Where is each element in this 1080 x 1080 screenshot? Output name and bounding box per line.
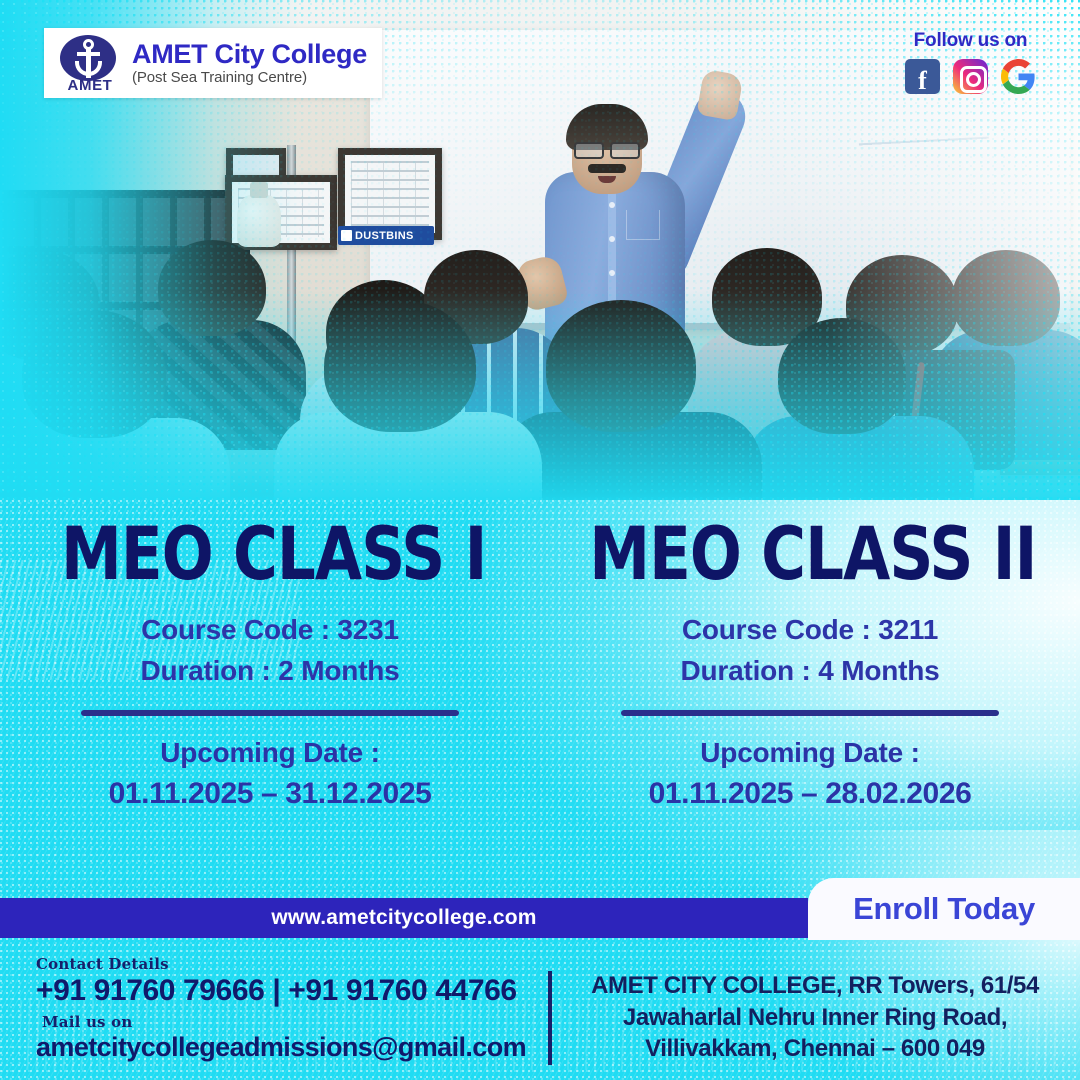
shirt-button — [609, 270, 615, 276]
course-meta: Course Code : 3211 Duration : 4 Months — [540, 610, 1080, 692]
eyeglasses-icon — [574, 142, 640, 155]
upcoming-label: Upcoming Date : — [540, 733, 1080, 773]
anchor-icon: AMET — [58, 34, 122, 92]
dustbins-sign-label: DUSTBINS — [355, 230, 414, 242]
dustbin-glyph — [341, 230, 352, 241]
course-duration: Duration : 4 Months — [540, 651, 1080, 692]
shirt-button — [609, 202, 615, 208]
google-icon[interactable] — [1001, 59, 1036, 94]
shirt-button — [609, 236, 615, 242]
enroll-today-label: Enroll Today — [853, 891, 1035, 927]
brand-title: AMET City College — [132, 40, 367, 68]
facebook-glyph: f — [918, 68, 927, 94]
course-heading: MEO CLASS I — [19, 520, 521, 590]
dustbins-sign: DUSTBINS — [338, 226, 434, 245]
course-upcoming: Upcoming Date : 01.11.2025 – 31.12.2025 — [0, 733, 540, 815]
facebook-icon[interactable]: f — [905, 59, 940, 94]
course-columns: MEO CLASS I Course Code : 3231 Duration … — [0, 520, 1080, 820]
whiteboard-writing — [859, 137, 991, 190]
website-bar[interactable]: www.ametcitycollege.com — [0, 898, 808, 938]
contact-email[interactable]: ametcitycollegeadmissions@gmail.com — [36, 1032, 536, 1063]
footer-contact-block: Contact Details +91 91760 79666 | +91 91… — [36, 955, 536, 1063]
course-code: Course Code : 3231 — [0, 610, 540, 651]
follow-us-label: Follow us on — [905, 30, 1036, 52]
address-line-3: Villivakkam, Chennai – 600 049 — [568, 1033, 1062, 1065]
poster-canvas: DUSTBINS — [0, 0, 1080, 1080]
shirt-pocket — [626, 210, 660, 240]
instagram-icon[interactable] — [953, 59, 988, 94]
upcoming-dates: 01.11.2025 – 28.02.2026 — [540, 773, 1080, 816]
course-meta: Course Code : 3231 Duration : 2 Months — [0, 610, 540, 692]
water-jug — [237, 195, 281, 247]
follow-us-block: Follow us on f — [905, 30, 1036, 94]
website-url: www.ametcitycollege.com — [271, 906, 536, 930]
footer: Contact Details +91 91760 79666 | +91 91… — [0, 945, 1080, 1080]
brand-logo-card[interactable]: AMET AMET City College (Post Sea Trainin… — [44, 28, 382, 98]
instructor-hand — [696, 69, 743, 121]
course-column-meo-class-2: MEO CLASS II Course Code : 3211 Duration… — [540, 520, 1080, 820]
instructor-moustache — [588, 164, 626, 173]
course-heading: MEO CLASS II — [559, 520, 1061, 590]
contact-phone-numbers[interactable]: +91 91760 79666 | +91 91760 44766 — [36, 974, 536, 1008]
grill-bar — [0, 190, 250, 198]
course-upcoming: Upcoming Date : 01.11.2025 – 28.02.2026 — [540, 733, 1080, 815]
logo-wordmark: AMET — [58, 77, 122, 94]
course-duration: Duration : 2 Months — [0, 651, 540, 692]
course-code: Course Code : 3211 — [540, 610, 1080, 651]
brand-subtitle: (Post Sea Training Centre) — [132, 70, 367, 86]
footer-address-block: AMET CITY COLLEGE, RR Towers, 61/54 Jawa… — [568, 970, 1062, 1065]
divider-rule — [621, 710, 999, 716]
contact-details-label: Contact Details — [36, 955, 536, 973]
footer-divider — [548, 971, 552, 1065]
chart-lines — [351, 161, 429, 227]
enroll-today-button[interactable]: Enroll Today — [808, 878, 1080, 940]
mail-us-on-label: Mail us on — [42, 1013, 536, 1031]
social-icons: f — [905, 59, 1036, 94]
address-line-2: Jawaharlal Nehru Inner Ring Road, — [568, 1002, 1062, 1034]
course-column-meo-class-1: MEO CLASS I Course Code : 3231 Duration … — [0, 520, 540, 820]
divider-rule — [81, 710, 459, 716]
address-line-1: AMET CITY COLLEGE, RR Towers, 61/54 — [568, 970, 1062, 1002]
upcoming-dates: 01.11.2025 – 31.12.2025 — [0, 773, 540, 816]
upcoming-label: Upcoming Date : — [0, 733, 540, 773]
